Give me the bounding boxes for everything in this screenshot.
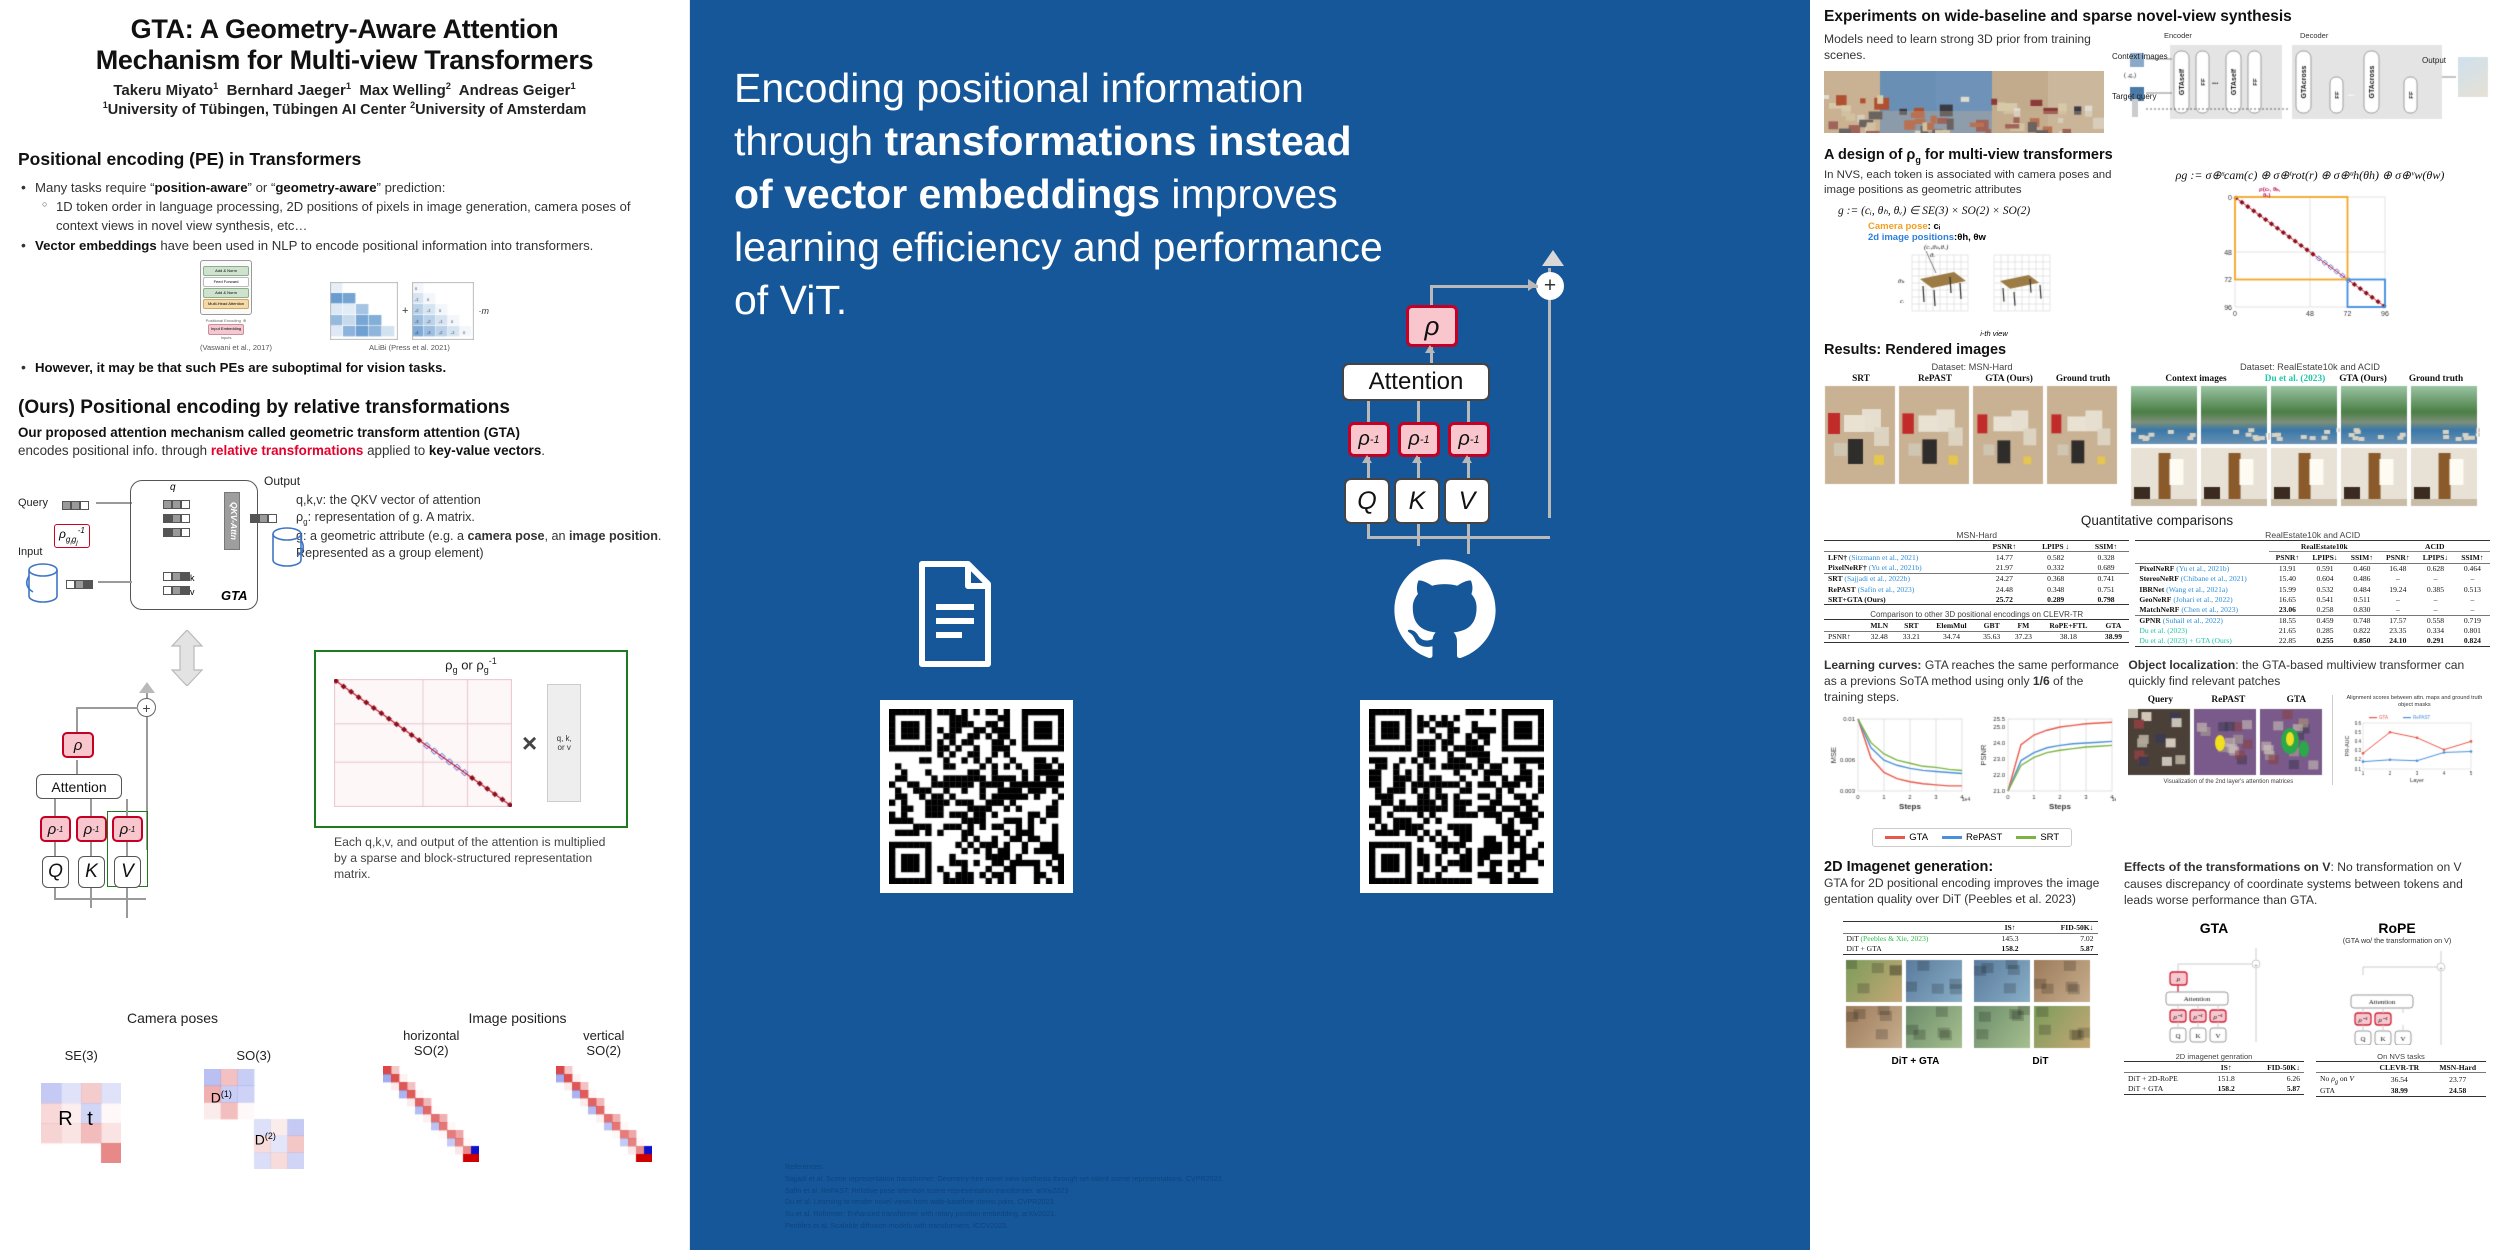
qkv-architecture: + ρ Attention ρ-1 ρ-1 ρ-1 Q K V [18,690,318,930]
so3-label: SO(3) [204,1048,304,1063]
gen-caption-right: DiT [2032,1056,2048,1067]
gen-text: GTA for 2D positional encoding improves … [1824,875,2116,907]
camera-poses-caption: Camera poses [0,1010,345,1026]
object-localization-text: Object localization: the GTA-based multi… [2128,657,2490,689]
figure-caption: ALiBi (Press et al. 2021) [330,343,489,352]
msn-results-images [1824,385,2120,487]
plus-node: + [1536,272,1564,300]
double-arrow-icon [170,630,204,686]
rho-box: ρ [1406,305,1458,347]
learning-curves-chart [1824,709,2116,825]
image-positions-caption: Image positions [345,1010,690,1026]
encoder-decoder-diagram: Encoder Decoder Context images Target qu… [2112,31,2492,137]
affiliations: 1University of Tübingen, Tübingen AI Cen… [18,100,671,119]
reference-item: Su et al. Roformer: Enhanced transformer… [785,1208,1345,1220]
table-title-nvs: On NVS tasks [2316,1052,2486,1061]
pe-figure-row: Add & Norm Feed Forward Add & Norm Multi… [18,260,671,352]
table-row: SRT+GTA (Ours) 25.720.2890.798 [1824,594,2129,605]
table-row: LFN† (Sitzmann et al., 2021) 14.770.5820… [1824,552,2129,563]
table-row: GTA38.9924.58 [2316,1086,2486,1097]
document-icon [910,560,1000,673]
list-item: Many tasks require “position-aware” or “… [18,179,671,235]
dataset-msn-caption: Dataset: MSN-Hard [1824,362,2120,372]
representation-matrices-section: Camera poses SE(3) R t SO(3) [0,1010,690,1174]
table-row: Du et al. (2023) 21.650.2850.822 23.350.… [2135,626,2490,636]
table-title-re10k: RealEstate10k and ACID [2135,530,2490,540]
representation-matrix-panel: ρg or ρg-1 × q, k,or v [314,650,628,828]
qkv-vector-column: q, k,or v [547,684,581,802]
gta-architecture-figure: + ρ Attention ρ-1 ρ-1 ρ-1 Q K V [18,634,671,884]
section-heading-ours: (Ours) Positional encoding by relative t… [18,397,671,419]
column-header: Du et al. (2023) [2262,374,2328,384]
se3-matrix [41,1083,121,1163]
horizontal-label: horizontal [383,1028,479,1043]
attention-caption: Visualization of the 2nd layer's attenti… [2128,779,2328,785]
table-row: DiT + GTA 158.25.87 [1843,944,2098,955]
list-item: However, it may be that such PEs are sub… [18,359,671,377]
gta-block-label: GTA [221,588,247,603]
column-header: Ground truth [2398,374,2474,384]
experiments-text: Models need to learn strong 3D prior fro… [1824,31,2104,63]
block-matrix-plot [334,679,512,807]
table-row: PixelNeRF† (Yu et al., 2021b) 21.970.332… [1824,563,2129,574]
qr-code-paper[interactable] [880,700,1073,893]
page-title: GTA: A Geometry-Aware Attention Mechanis… [18,14,671,76]
learning-curves-legend: GTA RePAST SRT [1872,828,2072,847]
column-header: Context images [2130,374,2262,384]
rho-inv-box-q: ρ-1 [40,816,71,842]
references-title: References: [785,1161,1345,1173]
legend-item: SRT [2016,832,2059,843]
table-row: IBRNet (Wang et al., 2021a) 15.990.5320.… [2135,584,2490,594]
column-header: Ground truth [2047,374,2119,384]
reference-item: Safin et al. RePAST: Relative pose atten… [785,1185,1345,1197]
k-box: K [1394,478,1440,524]
list-item: Vector embeddings have been used in NLP … [18,237,671,255]
output-label: Output [264,474,300,488]
msn-sample-strip [1824,71,2104,133]
alibi-matrix-left [330,282,398,340]
section-heading-pe: Positional encoding (PE) in Transformers [18,149,671,170]
rho-relative-box: ρgigj-1 [54,524,90,548]
rho-inv-box-k: ρ-1 [76,816,107,842]
rho-inv-box-k: ρ-1 [1398,422,1440,457]
table-row: GPNR (Suhail et al., 2022) 18.550.4590.7… [2135,615,2490,626]
list-item: 1D token order in language processing, 2… [39,198,671,235]
table-row: GeoNeRF (Johari et al., 2022) 16.650.541… [2135,594,2490,604]
column-header: Query [2129,695,2191,705]
generated-images-grid [1845,959,2095,1055]
ours-paragraph: Our proposed attention mechanism called … [18,424,671,460]
pe-bullet-list: Many tasks require “position-aware” or “… [18,179,671,256]
heading-experiments: Experiments on wide-baseline and sparse … [1824,8,2490,26]
heading-2d-gen: 2D Imagenet generation: [1824,859,2116,875]
table-msn: PSNR↑ LPIPS ↓ SSIM↑ LFN† (Sitzmann et al… [1824,540,2129,605]
v-box: V [114,856,141,888]
v-box: V [1444,478,1490,524]
table-nvs: CLEVR-TRMSN-Hard No ρg on V36.5423.77 GT… [2316,1061,2486,1097]
table-title-gen2d: 2D imagenet genration [2124,1052,2304,1061]
times-symbol: × [522,728,537,759]
attention-box: Attention [36,774,122,799]
panel-title: ρg or ρg-1 [316,656,626,675]
table-row: Du et al. (2023) + GTA (Ours) 22.850.255… [2135,636,2490,647]
heading-quant: Quantitative comparisons [1824,513,2490,528]
left-column: GTA: A Geometry-Aware Attention Mechanis… [0,0,690,1250]
center-architecture-diagram: + ρ Attention ρ-1 ρ-1 ρ-1 Q K V [1300,250,1590,540]
table-row: DiT + GTA158.25.87 [2124,1083,2304,1094]
rho-inv-box-v: ρ-1 [1448,422,1490,457]
authors: Takeru Miyato1 Bernhard Jaeger1 Max Well… [18,81,671,100]
gen-caption-left: DiT + GTA [1892,1056,1940,1067]
alibi-figure: + ·m ALiBi (Press et al. 2021) [330,282,489,352]
effects-text: Effects of the transformations on V: No … [2124,859,2490,908]
so2-h-label: SO(2) [383,1043,479,1058]
github-icon [1390,555,1500,670]
attention-box: Attention [1342,363,1490,401]
table-view-figure [1874,243,2074,329]
reference-item: Sajjadi et al. Scene representation tran… [785,1173,1345,1185]
output-cylinder-icon [266,524,308,572]
attention-map-images [2128,705,2328,779]
k-box: K [78,856,105,888]
column-header: RePAST [2197,695,2259,705]
table-row: DiT (Peebles & Xie, 2023) 145.37.02 [1843,933,2098,944]
plus-node: + [137,698,156,717]
table-row: PixelNeRF (Yu et al., 2021b) 13.910.5910… [2135,563,2490,574]
so3-matrix [204,1069,304,1169]
table-gen2d: IS↑FID-50K↓ DiT + 2D-RoPE151.86.26 DiT +… [2124,1061,2304,1095]
so2-horizontal-matrix [383,1066,479,1162]
poster-root: GTA: A Geometry-Aware Attention Mechanis… [0,0,2500,1250]
table-title-msn: MSN-Hard [1824,530,2129,540]
gta-block-figure: Query q QKV-Attn k v GTA ρgigj-1 [18,472,671,632]
references-block: References: Sajjadi et al. Scene represe… [785,1161,1345,1232]
q-box: Q [1344,478,1390,524]
reference-item: Peebles et al. Scalable diffusion models… [785,1220,1345,1232]
figure-caption: (Vaswani et al., 2017) [200,343,272,352]
q-box: Q [42,856,69,888]
table-dit: IS↑ FID-50K↓ DiT (Peebles & Xie, 2023) 1… [1843,921,2098,955]
center-column: Encoding positional information through … [690,0,1810,1250]
input-label: Input [18,546,42,558]
ith-view-caption: i-th view [1864,329,2124,338]
table-row: StereoNeRF (Chibane et al., 2021) 15.400… [2135,574,2490,584]
gta-diagram: Query q QKV-Attn k v GTA ρgigj-1 [18,472,288,632]
gta-notes: q,k,v: the QKV vector of attention ρg: r… [296,472,671,632]
qr-code-github[interactable] [1360,700,1553,893]
gta-mini-diagram: GTA [2124,920,2304,1046]
dataset-re10k-caption: Dataset: RealEstate10k and ACID [2130,362,2490,372]
table-row: MatchNeRF (Chen et al., 2023) 23.060.258… [2135,604,2490,615]
table-row: RePAST (Safin et al., 2023) 24.480.3480.… [1824,584,2129,594]
so2-vertical-matrix [556,1066,652,1162]
rho-g-formula: ρg := σ⊕ˢcam(c) ⊕ σ⊕ᵗrot(r) ⊕ σ⊕ᵘh(θh) ⊕… [2130,168,2490,183]
table-row: PSNR↑ 32.48 33.21 34.74 35.63 37.23 38.1… [1824,631,2129,642]
table-re10k: RealEstate10k ACID PSNR↑LPIPS↓SSIM↑ PSNR… [2135,540,2490,647]
vertical-label: vertical [556,1028,652,1043]
headline: Encoding positional information through … [734,62,1384,326]
se3-label: SE(3) [41,1048,121,1063]
input-cylinder-icon [22,560,64,608]
explanation-text: Each q,k,v, and output of the attention … [334,834,614,882]
reference-item: Du et al. Learning to render novel views… [785,1196,1345,1208]
alibi-matrix-right [412,282,474,340]
qkv-attn-block: QKV-Attn [224,492,240,550]
rho-box: ρ [62,732,94,758]
design-text: In NVS, each token is associated with ca… [1824,168,2124,198]
column-header: GTA [2265,695,2327,705]
query-label: Query [18,497,48,509]
transformer-figure: Add & Norm Feed Forward Add & Norm Multi… [200,260,272,352]
rho-structure-plot [2205,185,2415,325]
design-formula-g: g := (cᵢ, θₕ, θᵥ) ∈ SE(3) × SO(2) × SO(2… [1838,203,2124,217]
table-row: SRT (Sajjadi et al., 2022b) 24.270.3680.… [1824,573,2129,584]
rope-mini-diagram: RoPE (GTA wo/ the transformation on V) [2304,920,2490,1046]
heading-results: Results: Rendered images [1824,342,2490,358]
so2-v-label: SO(2) [556,1043,652,1058]
legend-item: GTA [1885,832,1928,843]
table-clevr: MLN SRT ElemMul GBT FM RoPE+FTL GTA PSNR… [1824,619,2129,642]
learning-curves-text: Learning curves: GTA reaches the same pe… [1824,657,2120,705]
pe-bullet-list-2: However, it may be that such PEs are sub… [18,359,671,377]
re10k-results-images [2130,385,2480,509]
right-column: Experiments on wide-baseline and sparse … [1810,0,2500,1250]
alignment-chart [2339,709,2489,785]
legend-item: RePAST [1942,832,2002,843]
column-header: GTA (Ours) [2328,374,2398,384]
rho-inv-box-q: ρ-1 [1348,422,1390,457]
heading-design: A design of ρg for multi-view transforme… [1824,147,2490,165]
column-header: SRT [1825,374,1897,384]
column-header: RePAST [1899,374,1971,384]
table-title-clevr: Comparison to other 3D positional encodi… [1824,610,2129,619]
column-header: GTA (Ours) [1973,374,2045,384]
table-row: DiT + 2D-RoPE151.86.26 [2124,1073,2304,1084]
table-row: No ρg on V36.5423.77 [2316,1073,2486,1086]
alignment-plot-title: Alignment scores between attn. maps and … [2339,695,2489,709]
pe-sub-list: 1D token order in language processing, 2… [39,198,671,235]
